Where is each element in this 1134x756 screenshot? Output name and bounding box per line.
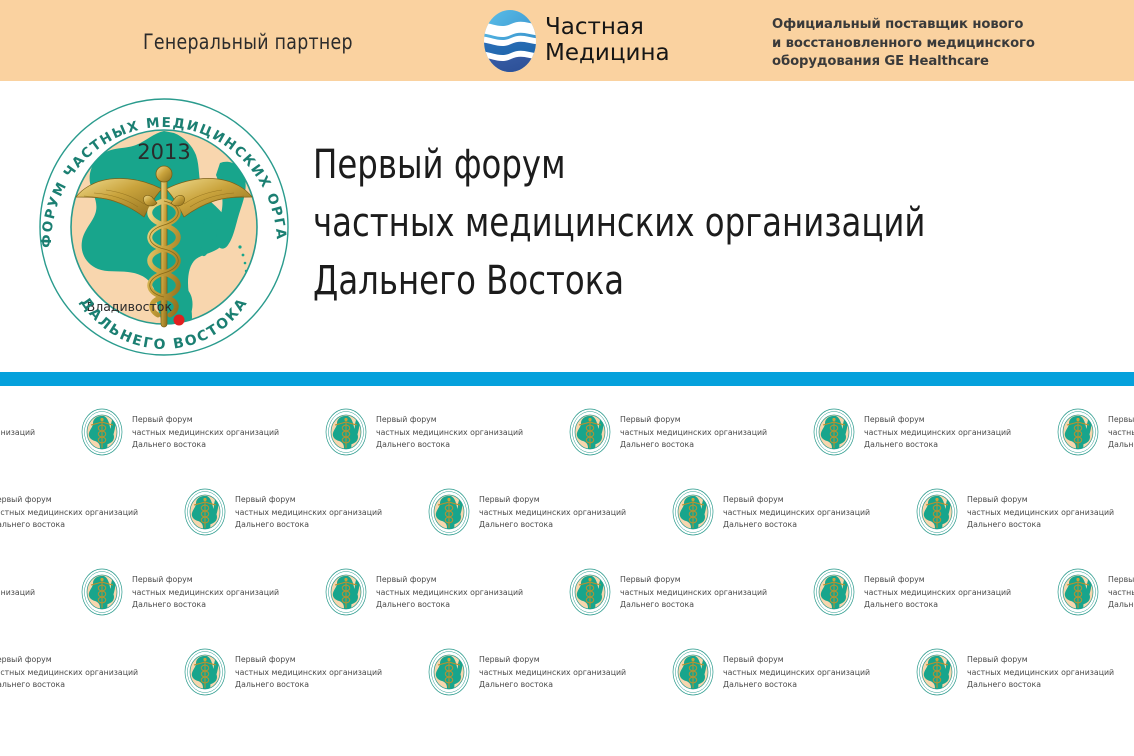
watermark-text-line-1: Первый форум (376, 413, 523, 426)
watermark-text: Первый форумчастных медицинских организа… (479, 653, 626, 691)
top-banner: Генеральный партнер (0, 0, 1134, 81)
watermark-text-line-1: Первый форум (479, 493, 626, 506)
watermark-tile: Первый форумчастных медицинских организа… (184, 488, 434, 536)
watermark-text-line-1: Первый форум (132, 573, 279, 586)
sponsor-name: Частная Медицина (545, 14, 670, 66)
watermark-text-line-1: Первый форум (376, 573, 523, 586)
supplier-statement: Официальный поставщик нового и восстанов… (772, 16, 1035, 72)
watermark-text: Первый форумчастных медицинских организа… (967, 493, 1114, 531)
watermark-emblem-icon (916, 648, 958, 696)
watermark-emblem-icon (428, 648, 470, 696)
watermark-text: Первый форумчастных медицинских организа… (723, 653, 870, 691)
watermark-text-line-3: Дальнего востока (479, 678, 626, 691)
watermark-text-line-3: Дальнего востока (376, 438, 523, 451)
watermark-text-line-3: Дальнего востока (864, 598, 1011, 611)
watermark-text-line-2: частных медицинских организаций (0, 426, 35, 439)
watermark-text: Первый форумчастных медицинских организа… (479, 493, 626, 531)
watermark-text: Первый форумчастных медицинских организа… (0, 493, 138, 531)
watermark-tile: Первый форумчастных медицинских организа… (813, 408, 1063, 456)
watermark-text-line-1: Первый форум (0, 493, 138, 506)
watermark-tile: Первый форумчастных медицинских организа… (0, 568, 87, 616)
watermark-text-line-2: частных медицинских организаций (479, 506, 626, 519)
page-title-line-1: Первый форум (313, 136, 925, 194)
watermark-text-line-1: Первый форум (235, 493, 382, 506)
watermark-text: Первый форумчастных медицинских организа… (0, 413, 35, 451)
watermark-text-line-3: Дальнего востока (376, 598, 523, 611)
watermark-text: Первый форумчастных медицинских организа… (620, 573, 767, 611)
watermark-text-line-2: частных медицинских организаций (132, 586, 279, 599)
watermark-text-line-3: Дальнего востока (0, 438, 35, 451)
page-title-line-3: Дальнего Востока (313, 252, 925, 310)
watermark-emblem-icon (813, 408, 855, 456)
watermark-text-line-1: Первый форум (864, 413, 1011, 426)
watermark-text: Первый форумчастных медицинских организа… (235, 493, 382, 531)
watermark-tile: Первый форумчастных медицинских организа… (428, 648, 678, 696)
watermark-text-line-1: Первый форум (723, 653, 870, 666)
watermark-tile: Первый форумчастных медицинских организа… (813, 568, 1063, 616)
watermark-tile: Первый форумчастных медицинских организа… (81, 408, 331, 456)
watermark-text: Первый форумчастных медицинских организа… (0, 573, 35, 611)
general-partner-label: Генеральный партнер (143, 30, 353, 54)
watermark-tile: Первый форумчастных медицинских организа… (0, 488, 190, 536)
page-title: Первый форум частных медицинских организ… (313, 136, 925, 310)
watermark-text-line-1: Первый форум (1108, 573, 1134, 586)
watermark-text-line-2: частных медицинских организаций (0, 666, 138, 679)
watermark-text-line-2: частных медицинских организаций (132, 426, 279, 439)
blue-divider-stripe (0, 372, 1134, 386)
watermark-text-line-2: частных медицинских организаций (235, 506, 382, 519)
watermark-text-line-2: частных медицинских организаций (723, 506, 870, 519)
watermark-text-line-2: частных медицинских организаций (864, 426, 1011, 439)
watermark-tile: Первый форумчастных медицинских организа… (1057, 408, 1134, 456)
watermark-text: Первый форумчастных медицинских организа… (132, 413, 279, 451)
watermark-text: Первый форумчастных медицинских организа… (1108, 413, 1134, 451)
hero-section: 2013 Владивосток ПЕРВЫЙ ФОРУМ ЧАСТНЫХ МЕ… (0, 81, 1134, 372)
watermark-text-line-2: частных медицинских организаций (376, 586, 523, 599)
watermark-text-line-3: Дальнего востока (967, 678, 1114, 691)
watermark-text-line-3: Дальнего востока (132, 438, 279, 451)
watermark-text-line-2: частных медицинских организаций (0, 506, 138, 519)
watermark-text: Первый форумчастных медицинских организа… (620, 413, 767, 451)
watermark-emblem-icon (325, 568, 367, 616)
watermark-text-line-2: частных медицинских организаций (620, 586, 767, 599)
watermark-emblem-icon (428, 488, 470, 536)
watermark-emblem-icon (569, 568, 611, 616)
watermark-emblem-icon (672, 648, 714, 696)
watermark-text: Первый форумчастных медицинских организа… (864, 573, 1011, 611)
supplier-line-3: оборудования GE Healthcare (772, 53, 1035, 72)
watermark-text-line-1: Первый форум (967, 493, 1114, 506)
watermark-emblem-icon (81, 568, 123, 616)
watermark-text: Первый форумчастных медицинских организа… (1108, 573, 1134, 611)
watermark-text: Первый форумчастных медицинских организа… (235, 653, 382, 691)
watermark-text-line-3: Дальнего востока (967, 518, 1114, 531)
watermark-tile: Первый форумчастных медицинских организа… (325, 408, 575, 456)
watermark-emblem-icon (672, 488, 714, 536)
watermark-emblem-icon (916, 488, 958, 536)
watermark-text-line-3: Дальнего востока (235, 518, 382, 531)
watermark-text: Первый форумчастных медицинских организа… (723, 493, 870, 531)
watermark-text-line-3: Дальнего востока (0, 678, 138, 691)
watermark-text-line-1: Первый форум (620, 573, 767, 586)
watermark-text: Первый форумчастных медицинских организа… (864, 413, 1011, 451)
page-title-line-2: частных медицинских организаций (313, 194, 925, 252)
watermark-text-line-1: Первый форум (132, 413, 279, 426)
blue-wave-sphere-icon (477, 9, 543, 73)
watermark-text-line-3: Дальнего востока (723, 518, 870, 531)
watermark-tile: Первый форумчастных медицинских организа… (569, 568, 819, 616)
watermark-text-line-3: Дальнего востока (1108, 598, 1134, 611)
watermark-text-line-2: частных медицинских организаций (723, 666, 870, 679)
watermark-emblem-icon (184, 488, 226, 536)
forum-emblem: 2013 Владивосток ПЕРВЫЙ ФОРУМ ЧАСТНЫХ МЕ… (24, 97, 304, 357)
watermark-text-line-1: Первый форум (620, 413, 767, 426)
watermark-tile: Первый форумчастных медицинских организа… (672, 488, 922, 536)
watermark-emblem-icon (813, 568, 855, 616)
watermark-text: Первый форумчастных медицинских организа… (0, 653, 138, 691)
vladivostok-dot (174, 315, 185, 326)
watermark-text-line-2: частных медицинских организаций (376, 426, 523, 439)
watermark-text-line-2: частных медицинских организаций (967, 666, 1114, 679)
watermark-emblem-icon (325, 408, 367, 456)
watermark-text: Первый форумчастных медицинских организа… (376, 573, 523, 611)
watermark-text-line-2: частных медицинских организаций (1108, 586, 1134, 599)
watermark-emblem-icon (1057, 408, 1099, 456)
watermark-tile: Первый форумчастных медицинских организа… (325, 568, 575, 616)
watermark-text-line-3: Дальнего востока (864, 438, 1011, 451)
watermark-text-line-3: Дальнего востока (1108, 438, 1134, 451)
watermark-text-line-2: частных медицинских организаций (967, 506, 1114, 519)
watermark-text-line-2: частных медицинских организаций (620, 426, 767, 439)
watermark-text-line-2: частных медицинских организаций (864, 586, 1011, 599)
watermark-text-line-1: Первый форум (723, 493, 870, 506)
watermark-text-line-3: Дальнего востока (620, 598, 767, 611)
watermark-emblem-icon (1057, 568, 1099, 616)
watermark-text-line-3: Дальнего востока (235, 678, 382, 691)
watermark-text-line-1: Первый форум (479, 653, 626, 666)
watermark-text-line-3: Дальнего востока (620, 438, 767, 451)
watermark-tile: Первый форумчастных медицинских организа… (1057, 568, 1134, 616)
supplier-line-1: Официальный поставщик нового (772, 16, 1035, 35)
watermark-emblem-icon (81, 408, 123, 456)
watermark-text-line-2: частных медицинских организаций (479, 666, 626, 679)
watermark-text-line-3: Дальнего востока (723, 678, 870, 691)
watermark-tile: Первый форумчастных медицинских организа… (0, 648, 190, 696)
watermark-text-line-3: Дальнего востока (479, 518, 626, 531)
watermark-text-line-2: частных медицинских организаций (235, 666, 382, 679)
supplier-line-2: и восстановленного медицинского (772, 35, 1035, 54)
watermark-text-line-1: Первый форум (0, 653, 138, 666)
watermark-text-line-2: частных медицинских организаций (1108, 426, 1134, 439)
watermark-tile: Первый форумчастных медицинских организа… (569, 408, 819, 456)
watermark-emblem-icon (569, 408, 611, 456)
watermark-tile: Первый форумчастных медицинских организа… (0, 408, 87, 456)
watermark-text-line-1: Первый форум (967, 653, 1114, 666)
watermark-text: Первый форумчастных медицинских организа… (967, 653, 1114, 691)
watermark-tile: Первый форумчастных медицинских организа… (916, 488, 1134, 536)
watermark-text-line-1: Первый форум (0, 413, 35, 426)
sponsor-name-line1: Частная (545, 14, 670, 40)
watermark-text-line-3: Дальнего востока (0, 598, 35, 611)
watermark-tile: Первый форумчастных медицинских организа… (672, 648, 922, 696)
watermark-text-line-1: Первый форум (864, 573, 1011, 586)
watermark-text-line-1: Первый форум (235, 653, 382, 666)
watermark-tile: Первый форумчастных медицинских организа… (184, 648, 434, 696)
watermark-emblem-icon (184, 648, 226, 696)
watermark-tile: Первый форумчастных медицинских организа… (81, 568, 331, 616)
watermark-text-line-3: Дальнего востока (132, 598, 279, 611)
watermark-text-line-2: частных медицинских организаций (0, 586, 35, 599)
watermark-text: Первый форумчастных медицинских организа… (132, 573, 279, 611)
watermark-text-line-3: Дальнего востока (0, 518, 138, 531)
watermark-text: Первый форумчастных медицинских организа… (376, 413, 523, 451)
watermark-pattern: Первый форумчастных медицинских организа… (0, 386, 1134, 756)
poster-page: Генеральный партнер (0, 0, 1134, 756)
emblem-year: 2013 (137, 140, 190, 164)
watermark-text-line-1: Первый форум (0, 573, 35, 586)
watermark-tile: Первый форумчастных медицинских организа… (428, 488, 678, 536)
watermark-text-line-1: Первый форум (1108, 413, 1134, 426)
watermark-tile: Первый форумчастных медицинских организа… (916, 648, 1134, 696)
sponsor-name-line2: Медицина (545, 40, 670, 66)
